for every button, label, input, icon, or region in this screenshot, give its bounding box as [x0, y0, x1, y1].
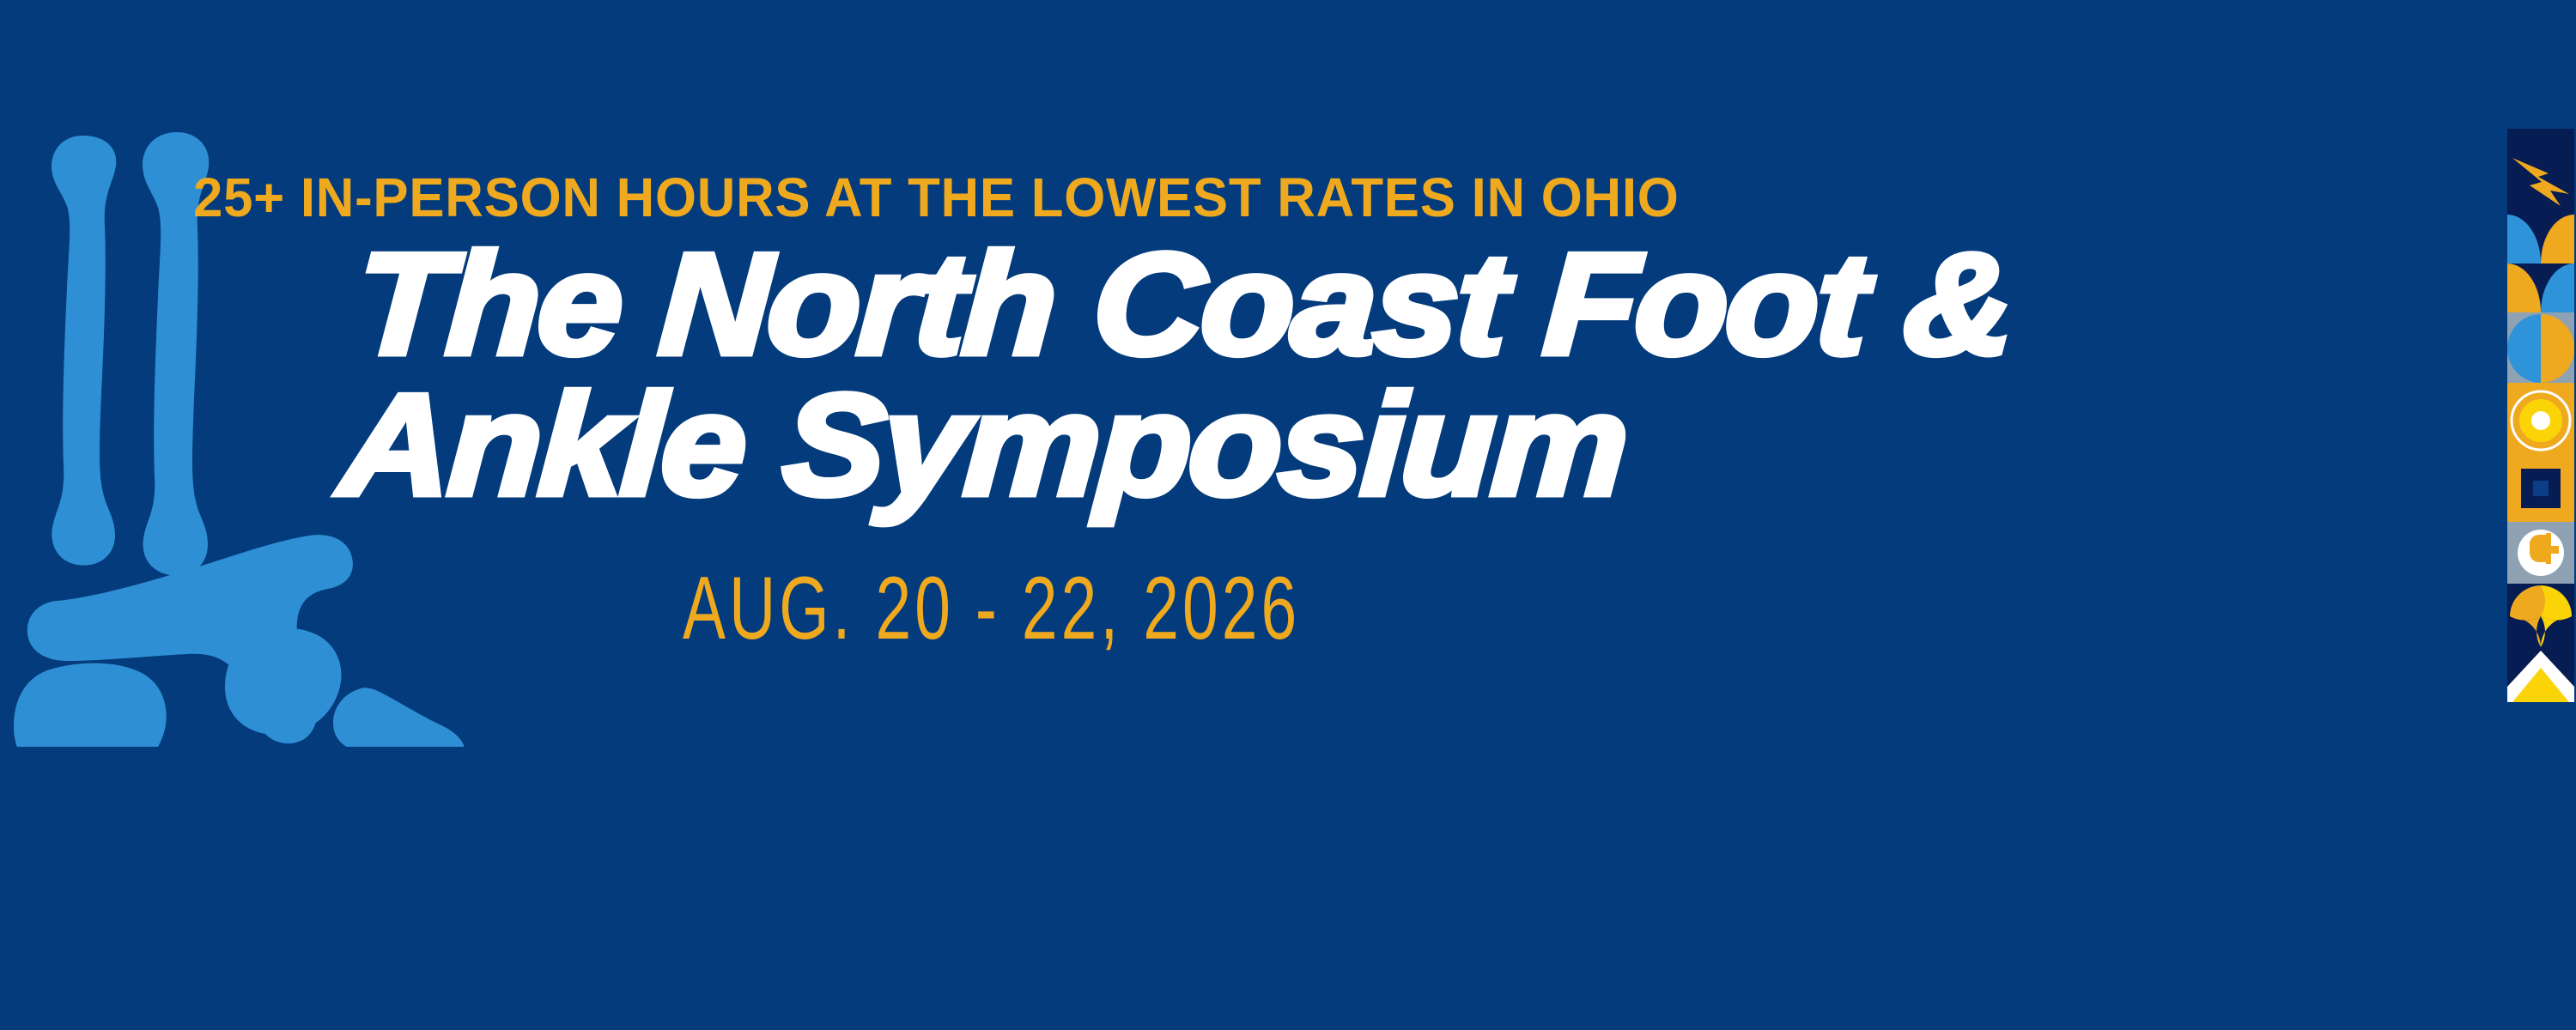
- eyebrow-tagline: 25+ IN-PERSON HOURS AT THE LOWEST RATES …: [193, 163, 2265, 232]
- split-circle-tile: [2507, 312, 2574, 383]
- title-line-2: Ankle Symposium: [337, 374, 2576, 515]
- chevron-arrow-tile: [2507, 649, 2574, 702]
- event-banner: 25+ IN-PERSON HOURS AT THE LOWEST RATES …: [0, 0, 2576, 1030]
- plug-circle-tile: [2507, 522, 2574, 584]
- lightning-bolt-tile: [2507, 129, 2574, 215]
- four-point-star-tile: [2507, 584, 2574, 649]
- banner-text-block: 25+ IN-PERSON HOURS AT THE LOWEST RATES …: [0, 0, 2507, 1030]
- concentric-sun-tile: [2507, 383, 2574, 458]
- quarter-circles-tile-bottom: [2507, 264, 2574, 312]
- event-date: AUG. 20 - 22, 2026: [683, 558, 1919, 661]
- geometric-pattern-strip: [2507, 129, 2574, 702]
- title-line-1: The North Coast Foot &: [353, 233, 2576, 374]
- page-title: The North Coast Foot & Ankle Symposium: [361, 233, 2524, 534]
- quarter-circles-tile-top: [2507, 215, 2574, 264]
- nested-square-tile: [2507, 458, 2574, 522]
